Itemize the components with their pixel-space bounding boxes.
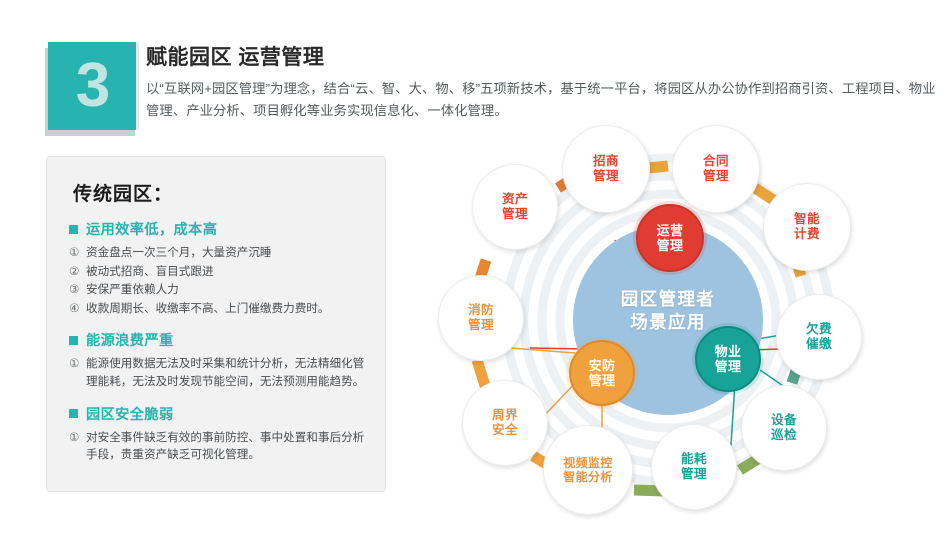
list-item: ① 资金盘点一次三个月，大量资产沉睡 <box>69 244 369 262</box>
label-line1: 视频监控 <box>563 456 613 470</box>
label-line2: 智能分析 <box>563 470 613 484</box>
label-line1: 消防 <box>468 303 494 318</box>
slide-root: 3 赋能园区 运营管理 以“互联网+园区管理”为理念，结合“云、智、大、物、移”… <box>0 0 950 534</box>
label-line1: 智能 <box>794 212 820 227</box>
issue-group-title: 园区安全脆弱 <box>86 404 174 424</box>
label-line2: 计费 <box>794 227 820 242</box>
issue-list: ① 能源使用数据无法及时采集和统计分析，无法精细化管理能耗，无法及时发现节能空间… <box>69 355 369 390</box>
issue-group: 运用效率低，成本高 ① 资金盘点一次三个月，大量资产沉睡 ② 被动式招商、盲目式… <box>69 219 369 317</box>
outer-node-fire-management[interactable]: 消防 管理 <box>438 275 524 361</box>
list-item-number: ② <box>69 263 86 281</box>
list-item-number: ① <box>69 244 86 262</box>
label-line1: 物业 <box>715 344 742 359</box>
inner-node-property[interactable]: 物业 管理 <box>695 326 761 392</box>
list-item-number: ③ <box>69 281 86 299</box>
outer-node-smart-billing-label: 智能 计费 <box>794 212 820 242</box>
outer-node-energy-management[interactable]: 能耗 管理 <box>651 424 737 510</box>
label-line2: 管理 <box>589 373 616 388</box>
list-item-text: 安保严重依赖人力 <box>86 281 369 299</box>
outer-node-asset-management-label: 资产 管理 <box>502 192 528 222</box>
issue-list: ① 对安全事件缺乏有效的事前防控、事中处置和事后分析手段，贵重资产缺乏可视化管理… <box>69 429 369 464</box>
outer-node-smart-billing[interactable]: 智能 计费 <box>763 183 851 271</box>
issue-group-header: 运用效率低，成本高 <box>69 219 369 239</box>
step-number: 3 <box>76 55 110 117</box>
issue-group: 园区安全脆弱 ① 对安全事件缺乏有效的事前防控、事中处置和事后分析手段，贵重资产… <box>69 404 369 464</box>
outer-node-equipment-inspection[interactable]: 设备 巡检 <box>741 385 827 471</box>
label-line2: 管理 <box>657 238 684 253</box>
list-item-text: 能源使用数据无法及时采集和统计分析，无法精细化管理能耗，无法及时发现节能空间，无… <box>86 355 369 390</box>
inner-node-security[interactable]: 安防 管理 <box>569 340 635 406</box>
label-line1: 合同 <box>703 154 729 169</box>
step-badge: 3 <box>48 42 138 130</box>
list-item: ① 能源使用数据无法及时采集和统计分析，无法精细化管理能耗，无法及时发现节能空间… <box>69 355 369 390</box>
traditional-park-panel: 传统园区： 运用效率低，成本高 ① 资金盘点一次三个月，大量资产沉睡 ② 被动式… <box>46 156 386 492</box>
label-line1: 设备 <box>771 413 797 428</box>
list-item: ① 对安全事件缺乏有效的事前防控、事中处置和事后分析手段，贵重资产缺乏可视化管理… <box>69 429 369 464</box>
label-line2: 管理 <box>502 207 528 222</box>
inner-node-property-label: 物业 管理 <box>715 344 742 375</box>
list-item-number: ① <box>69 355 86 390</box>
list-item-number: ① <box>69 429 86 464</box>
panel-body: 运用效率低，成本高 ① 资金盘点一次三个月，大量资产沉睡 ② 被动式招商、盲目式… <box>69 219 369 477</box>
park-management-diagram: 园区管理者 场景应用 运营 管理 安防 管理 物业 管理 <box>430 108 930 528</box>
label-line2: 巡检 <box>771 428 797 443</box>
issue-group-header: 能源浪费严重 <box>69 330 369 350</box>
outer-node-energy-management-label: 能耗 管理 <box>681 452 707 482</box>
outer-node-equipment-inspection-label: 设备 巡检 <box>771 413 797 443</box>
outer-node-investment-management-label: 招商 管理 <box>593 154 619 184</box>
bullet-square-icon <box>69 409 78 418</box>
outer-node-contract-management-label: 合同 管理 <box>703 154 729 184</box>
outer-node-perimeter-security[interactable]: 周界 安全 <box>462 380 548 466</box>
issue-group-header: 园区安全脆弱 <box>69 404 369 424</box>
list-item: ③ 安保严重依赖人力 <box>69 281 369 299</box>
outer-node-fire-management-label: 消防 管理 <box>468 303 494 333</box>
bullet-square-icon <box>69 225 78 234</box>
outer-node-video-surveillance[interactable]: 视频监控 智能分析 <box>543 425 633 515</box>
outer-node-investment-management[interactable]: 招商 管理 <box>562 125 650 213</box>
label-line2: 管理 <box>593 169 619 184</box>
inner-node-security-label: 安防 管理 <box>589 358 616 389</box>
label-line1: 能耗 <box>681 452 707 467</box>
list-item-number: ④ <box>69 300 86 318</box>
diagram-nodes: 园区管理者 场景应用 运营 管理 安防 管理 物业 管理 <box>430 108 930 528</box>
center-label-line1: 园区管理者 <box>573 288 763 311</box>
outer-node-arrears-collection-label: 欠费 催缴 <box>806 322 832 352</box>
label-line2: 管理 <box>703 169 729 184</box>
label-line2: 管理 <box>715 359 742 374</box>
label-line2: 管理 <box>681 467 707 482</box>
label-line2: 安全 <box>492 423 518 438</box>
list-item-text: 被动式招商、盲目式跟进 <box>86 263 369 281</box>
inner-node-operation[interactable]: 运营 管理 <box>636 204 704 272</box>
label-line1: 资产 <box>502 192 528 207</box>
label-line2: 管理 <box>468 318 494 333</box>
bullet-square-icon <box>69 336 78 345</box>
list-item: ② 被动式招商、盲目式跟进 <box>69 263 369 281</box>
outer-node-arrears-collection[interactable]: 欠费 催缴 <box>776 294 862 380</box>
panel-title: 传统园区： <box>73 179 173 206</box>
list-item-text: 收款周期长、收缴率不高、上门催缴费力费时。 <box>86 300 369 318</box>
outer-node-asset-management[interactable]: 资产 管理 <box>472 164 558 250</box>
issue-group-title: 运用效率低，成本高 <box>86 219 217 239</box>
header-divider <box>136 42 139 130</box>
label-line1: 安防 <box>589 358 616 373</box>
label-line1: 招商 <box>593 154 619 169</box>
label-line1: 运营 <box>657 223 684 238</box>
issue-list: ① 资金盘点一次三个月，大量资产沉睡 ② 被动式招商、盲目式跟进 ③ 安保严重依… <box>69 244 369 317</box>
outer-node-contract-management[interactable]: 合同 管理 <box>672 125 760 213</box>
inner-node-operation-label: 运营 管理 <box>657 223 684 254</box>
label-line1: 周界 <box>492 408 518 423</box>
issue-group: 能源浪费严重 ① 能源使用数据无法及时采集和统计分析，无法精细化管理能耗，无法及… <box>69 330 369 390</box>
label-line2: 催缴 <box>806 337 832 352</box>
list-item-text: 对安全事件缺乏有效的事前防控、事中处置和事后分析手段，贵重资产缺乏可视化管理。 <box>86 429 369 464</box>
outer-node-perimeter-security-label: 周界 安全 <box>492 408 518 438</box>
issue-group-title: 能源浪费严重 <box>86 330 174 350</box>
page-title: 赋能园区 运营管理 <box>146 44 936 71</box>
outer-node-video-surveillance-label: 视频监控 智能分析 <box>563 456 613 485</box>
list-item-text: 资金盘点一次三个月，大量资产沉睡 <box>86 244 369 262</box>
list-item: ④ 收款周期长、收缴率不高、上门催缴费力费时。 <box>69 300 369 318</box>
label-line1: 欠费 <box>806 322 832 337</box>
